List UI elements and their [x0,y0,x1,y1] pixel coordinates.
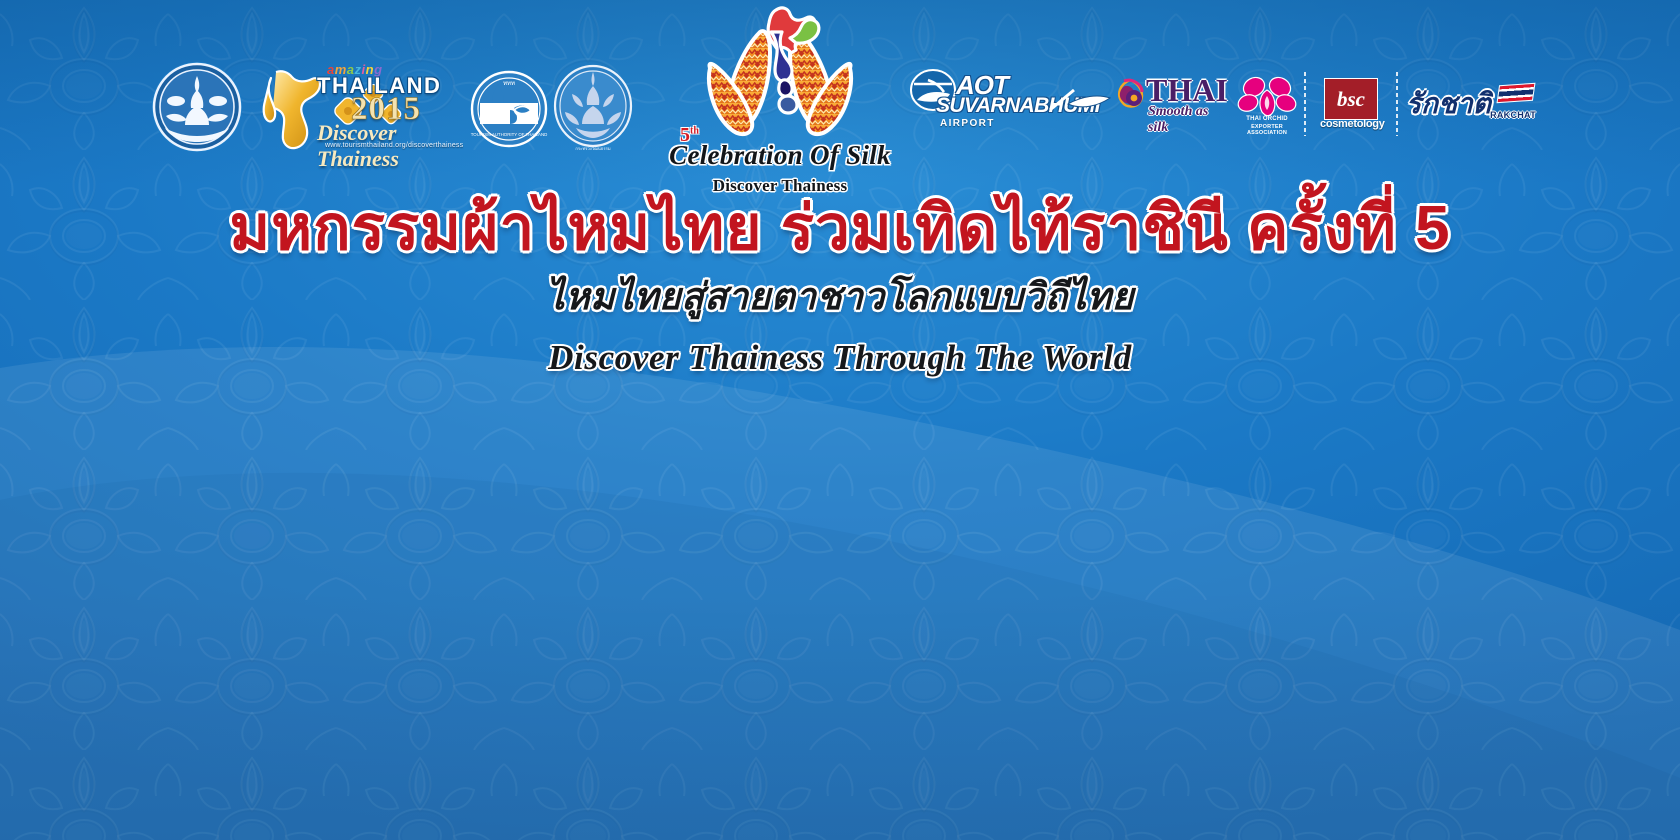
orchid-line1: THAI ORCHID [1236,116,1298,122]
celebration-of-silk-wordmark: Celebration Of Silk [664,140,896,171]
logo-rakchat[interactable]: รักชาติ RAKCHAT [1406,82,1536,132]
svg-text:ททท: ททท [503,81,515,87]
silk-lotus-thailand-map-icon [664,4,896,140]
royal-seal-icon [152,62,242,152]
logo-divider [1304,72,1306,136]
festival-banner: amazing THAILAND 2015 Discover Thainess … [0,0,1680,840]
orchid-line2: EXPORTER ASSOCIATION [1236,124,1298,136]
page-tagline: Discover Thainess Through The World [0,338,1680,378]
logo-ministry-seal[interactable]: กระทรวงวัฒนธรรม [552,64,634,152]
logo-tourism-authority-of-thailand[interactable]: ททท TOURISM AUTHORITY OF THAILAND [470,70,548,148]
bsc-name: cosmetology [1320,118,1384,130]
amazing-url: www.tourismthailand.org/discoverthainess [325,142,463,149]
logo-aot-suvarnabhumi-airport[interactable]: AOT SUVARNABHUMI AIRPORT [908,66,1103,144]
thai-tagline: Smooth as silk [1148,104,1232,136]
page-subtitle: ไหมไทยสู่สายตาชาวโลกแบบวิถีไทย [0,267,1680,326]
logo-divider-2 [1396,72,1398,136]
bsc-square-icon: bsc [1324,78,1378,120]
logo-celebration-of-silk[interactable]: 5th Celebration Of Silk Discover Thaines… [664,4,896,202]
thai-airways-logo-icon [1112,76,1148,118]
orchid-icon [1236,74,1298,118]
logo-thai-orchid-exporter-association[interactable]: THAI ORCHID EXPORTER ASSOCIATION [1236,74,1298,136]
logo-queen-sirikit-royal-seal[interactable] [152,62,242,152]
logo-bsc-cosmetology[interactable]: bsc cosmetology [1320,78,1386,134]
bsc-mark: bsc [1325,79,1377,119]
thai-flag-icon [1496,83,1535,103]
airport-label: AIRPORT [940,118,995,129]
aot-swoosh-icon [1048,88,1112,114]
page-title: มหกรรมผ้าไหมไทย ร่วมเทิดไท้ราชินี ครั้งท… [0,196,1680,263]
logo-amazing-thailand-2015[interactable]: amazing THAILAND 2015 Discover Thainess … [255,62,460,154]
headline-block: มหกรรมผ้าไหมไทย ร่วมเทิดไท้ราชินี ครั้งท… [0,196,1680,378]
ministry-seal-icon: กระทรวงวัฒนธรรม [552,64,634,152]
logo-thai-airways[interactable]: THAI Smooth as silk [1112,72,1232,134]
svg-text:กระทรวงวัฒนธรรม: กระทรวงวัฒนธรรม [575,146,610,151]
tat-seal-icon: ททท TOURISM AUTHORITY OF THAILAND [470,70,548,148]
rakchat-thai-name: รักชาติ [1406,82,1491,126]
svg-text:TOURISM AUTHORITY OF THAILAND: TOURISM AUTHORITY OF THAILAND [471,132,548,137]
rakchat-en-name: RAKCHAT [1490,110,1536,120]
silk-discover-thainess: Discover Thainess [664,176,896,196]
